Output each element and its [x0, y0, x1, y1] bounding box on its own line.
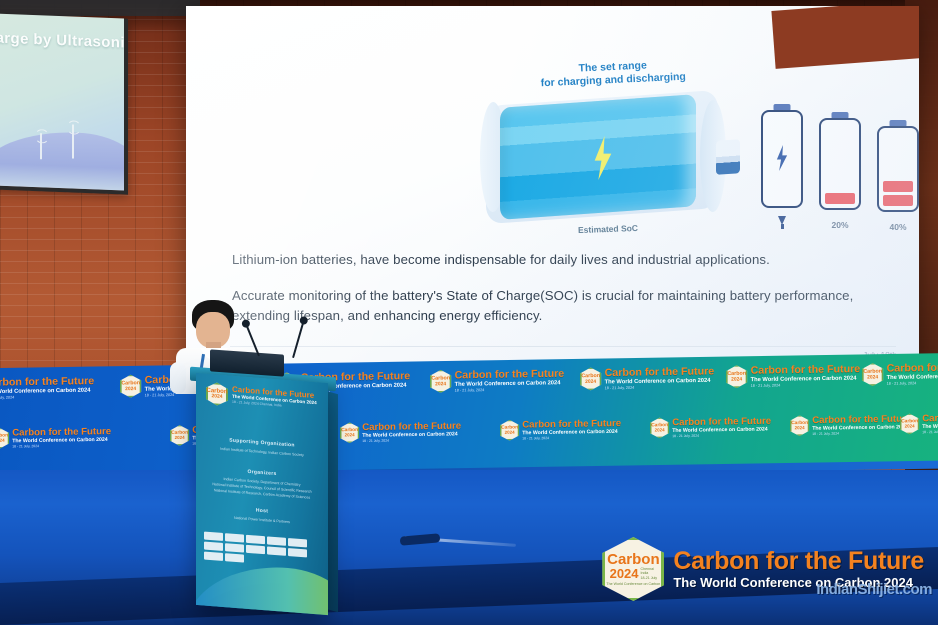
backdrop-logo-tile: Carbon2024Carbon for the FutureThe World… — [900, 412, 938, 435]
ceiling-beam — [0, 0, 200, 16]
backdrop-tile-text: Carbon for the FutureThe World Conferenc… — [0, 375, 94, 400]
backdrop-tile-subtitle: The World Conference on Carbon 2024 — [362, 432, 461, 439]
backdrop-tile-subtitle: The World Conference on Carbon 2024 — [751, 375, 861, 382]
carbon-hex-logo-icon: Carbon2024 — [500, 420, 519, 441]
sponsor-logo — [204, 542, 223, 551]
backdrop-tile-title: Carbon for the Future — [922, 412, 938, 423]
sponsor-logo — [267, 546, 286, 555]
main-projection-screen: The set range for charging and dischargi… — [186, 6, 919, 369]
backdrop-tile-title: Carbon for the Future — [455, 368, 565, 380]
battery-body — [877, 126, 919, 212]
side-slide-title: harge by Ultrasoni — [0, 29, 128, 52]
hex-logo-year: 2024 — [0, 438, 5, 443]
wind-turbine-icon — [72, 124, 74, 158]
battery-segment — [883, 195, 913, 206]
backdrop-tile-title: Carbon for the Future — [812, 413, 911, 424]
backdrop-tile-text: Carbon for the FutureThe World Conferenc… — [12, 426, 111, 449]
carbon-hex-logo-icon: Carbon 2024 — [206, 382, 228, 407]
sponsor-logo — [246, 545, 265, 554]
slide-paragraph-1: Lithium-ion batteries, have become indis… — [232, 250, 892, 270]
backdrop-tile-strip: 18 - 21 July, 2024 — [672, 433, 771, 438]
backdrop-tile-title: Carbon for the Future — [362, 420, 461, 431]
backdrop-tile-strip: 18 - 21 July, 2024 — [887, 381, 938, 386]
backdrop-logo-tile: Carbon2024Carbon for the FutureThe World… — [340, 420, 461, 443]
backdrop-tile-text: Carbon for the FutureThe World Conferenc… — [522, 418, 621, 441]
podium-header: Carbon 2024 Carbon for the Future The Wo… — [206, 382, 320, 414]
backdrop-tile-text: Carbon for the FutureThe World Conferenc… — [605, 365, 715, 390]
backdrop-tile-title: Carbon for the Future — [751, 363, 861, 375]
backdrop-tile-title: Carbon for the Future — [12, 426, 111, 437]
wind-turbine-icon — [40, 133, 42, 159]
overlay-logo-year: 2024 — [610, 567, 639, 580]
backdrop-tile-subtitle: The World Conference on Carbon 2024 — [0, 387, 94, 394]
carbon-hex-logo-icon: Carbon2024 — [650, 417, 669, 438]
secondary-projection-screen: harge by Ultrasoni — [0, 13, 128, 194]
hex-logo-year: 2024 — [435, 381, 446, 386]
backdrop-logo-tile: Carbon2024Carbon for the FutureThe World… — [430, 368, 564, 394]
backdrop-logo-tile: Carbon2024Carbon for the FutureThe World… — [0, 375, 94, 401]
backdrop-tile-title: Carbon for the Future — [887, 361, 938, 373]
battery-body — [819, 118, 861, 210]
hex-logo-year: 2024 — [125, 386, 136, 391]
big-battery-graphic — [486, 98, 718, 216]
sponsor-logo — [225, 543, 244, 552]
hex-logo-year: 2024 — [905, 424, 915, 429]
hex-logo-year: 2024 — [731, 377, 742, 382]
carbon-hex-logo-icon: Carbon2024 — [0, 428, 9, 449]
backdrop-tile-strip: 18 - 21 July, 2024 — [0, 395, 94, 400]
backdrop-tile-text: Carbon for the FutureThe World Conferenc… — [362, 420, 461, 443]
carbon-hex-logo-icon: Carbon2024 — [790, 415, 809, 436]
slide-paragraph-2: Accurate monitoring of the battery's Sta… — [232, 286, 892, 326]
sponsor-logo — [225, 553, 244, 562]
screen-corner-mask — [771, 6, 919, 69]
screenshot-root: harge by Ultrasoni The set range for cha… — [0, 0, 938, 625]
hex-logo-year: 2024 — [867, 375, 878, 380]
carbon-hex-logo-icon: Carbon2024 — [726, 365, 747, 388]
backdrop-tile-strip: 18 - 21 July, 2024 — [522, 436, 621, 441]
podium-section-host: Host National Power Institute & Partners — [204, 504, 320, 528]
backdrop-tile-strip: 18 - 21 July, 2024 — [605, 385, 715, 390]
site-watermark: IndianShijiet.com — [816, 581, 932, 598]
carbon-hex-logo-icon: Carbon2024 — [120, 375, 141, 398]
overlay-logo-word: Carbon — [607, 552, 660, 567]
speaker-arm — [170, 362, 186, 394]
backdrop-tile-subtitle: The World Conference on Carbon 2024 — [605, 378, 715, 385]
backdrop-tile-text: Carbon for the FutureThe World Conferenc… — [812, 413, 911, 436]
backdrop-tile-text: Carbon for the FutureThe World Conferenc… — [887, 361, 938, 386]
backdrop-tile-title: Carbon for the Future — [605, 365, 715, 377]
hex-logo-year: 2024 — [795, 426, 805, 431]
hex-logo-year: 2024 — [175, 436, 185, 441]
backdrop-logo-tile: Carbon2024Carbon for the FutureThe World… — [650, 416, 771, 439]
backdrop-logo-tile: Carbon2024Carbon for the FutureThe World… — [862, 361, 938, 387]
overlay-logo-bottom: The World Conference on Carbon — [606, 582, 660, 586]
backdrop-logo-tile: Carbon2024Carbon for the FutureThe World… — [500, 418, 621, 441]
slide-divider — [230, 346, 896, 347]
battery-percent-label: 40% — [877, 222, 919, 232]
sponsor-logo — [288, 538, 307, 547]
backdrop-tile-subtitle: The World Conference on Carbon 2024 — [887, 373, 938, 380]
conference-backdrop-banner: Carbon2024Carbon for the FutureThe World… — [0, 353, 938, 480]
carbon-hex-logo-icon: Carbon2024 — [170, 425, 189, 446]
battery-body — [761, 110, 803, 208]
hex-logo-year: 2024 — [345, 433, 355, 438]
slide-body-text: Lithium-ion batteries, have become indis… — [232, 250, 892, 326]
overlay-logo-year-row: 2024 Chennai India 18-21 July — [610, 567, 658, 580]
backdrop-tile-subtitle: The World Conference on Carbon 2024 — [455, 380, 565, 387]
overlay-title: Carbon for the Future — [673, 549, 924, 574]
backdrop-tile-strip: 18 - 21 July, 2024 — [455, 387, 565, 392]
hex-logo-year: 2024 — [585, 379, 596, 384]
carbon-hex-logo-icon: Carbon2024 — [340, 422, 359, 443]
backdrop-tile-strip: 18 - 21 July, 2024 — [362, 438, 461, 443]
side-slide-hill-graphic — [0, 129, 128, 195]
carbon-hex-logo-icon: Carbon 2024 Chennai India 18-21 July The… — [602, 537, 664, 601]
backdrop-tile-strip: 18 - 21 July, 2024 — [922, 429, 938, 434]
sponsor-logo — [267, 536, 286, 545]
carbon-hex-logo-icon: Carbon2024 — [580, 367, 601, 390]
backdrop-tile-subtitle: The World Conference on Carbon 2024 — [812, 425, 911, 432]
podium-section-organizers: Organizers Indian Carbon Society, Depart… — [204, 466, 320, 502]
backdrop-tile-subtitle: The World Conference on Carbon 2024 — [922, 423, 938, 430]
overlay-logo-meta: Chennai India 18-21 July — [641, 567, 658, 580]
sponsor-logo — [246, 535, 265, 544]
battery-segment — [883, 181, 913, 192]
estimated-soc-label: Estimated SoC — [538, 222, 678, 237]
backdrop-tile-title: Carbon for the Future — [0, 375, 94, 387]
backdrop-tile-title: Carbon for the Future — [522, 418, 621, 429]
backdrop-tile-title: Carbon for the Future — [672, 416, 771, 427]
podium-sponsor-logos — [204, 532, 320, 569]
carbon-hex-logo-icon: Carbon2024 — [862, 363, 883, 386]
backdrop-tile-text: Carbon for the FutureThe World Conferenc… — [455, 368, 565, 393]
sponsor-logo — [204, 532, 223, 541]
sponsor-logo — [225, 533, 244, 542]
backdrop-tile-text: Carbon for the FutureThe World Conferenc… — [751, 363, 861, 388]
big-battery-terminal — [716, 139, 740, 175]
backdrop-tile-strip: 18 - 21 July, 2024 — [812, 431, 911, 436]
podium-section-supporting: Supporting Organization Indian Institute… — [204, 436, 320, 460]
carbon-hex-logo-icon: Carbon2024 — [900, 413, 919, 434]
hex-logo-year: 2024 — [655, 428, 665, 433]
battery-level-row: 20%40%60%80%100% — [761, 102, 919, 242]
carbon-hex-logo-icon: Carbon2024 — [430, 370, 451, 393]
sponsor-logo — [288, 548, 307, 557]
backdrop-tile-subtitle: The World Conference on Carbon 2024 — [522, 429, 621, 436]
battery-segment — [825, 193, 855, 204]
backdrop-tile-subtitle: The World Conference on Carbon 2024 — [12, 437, 111, 444]
backdrop-tile-text: Carbon for the FutureThe World Conferenc… — [672, 416, 771, 439]
backdrop-tile-subtitle: The World Conference on Carbon 2024 — [672, 427, 771, 434]
backdrop-tile-strip: 18 - 21 July, 2024 — [12, 444, 111, 449]
podium-lectern: Carbon 2024 Carbon for the Future The Wo… — [196, 373, 328, 615]
backdrop-logo-tile: Carbon2024Carbon for the FutureThe World… — [0, 426, 111, 449]
backdrop-logo-tile: Carbon2024Carbon for the FutureThe World… — [580, 365, 714, 391]
backdrop-tile-text: Carbon for the FutureThe World Conferenc… — [922, 412, 938, 435]
backdrop-logo-tile: Carbon2024Carbon for the FutureThe World… — [790, 413, 911, 436]
backdrop-tile-strip: 18 - 21 July, 2024 — [751, 383, 861, 388]
hex-logo-year: 2024 — [505, 430, 515, 435]
lightning-bolt-icon — [774, 145, 790, 171]
backdrop-logo-tile: Carbon2024Carbon for the FutureThe World… — [726, 363, 860, 389]
battery-percent-label: 20% — [819, 220, 861, 230]
sponsor-logo — [204, 552, 223, 561]
set-range-label: The set range for charging and dischargi… — [537, 58, 688, 91]
